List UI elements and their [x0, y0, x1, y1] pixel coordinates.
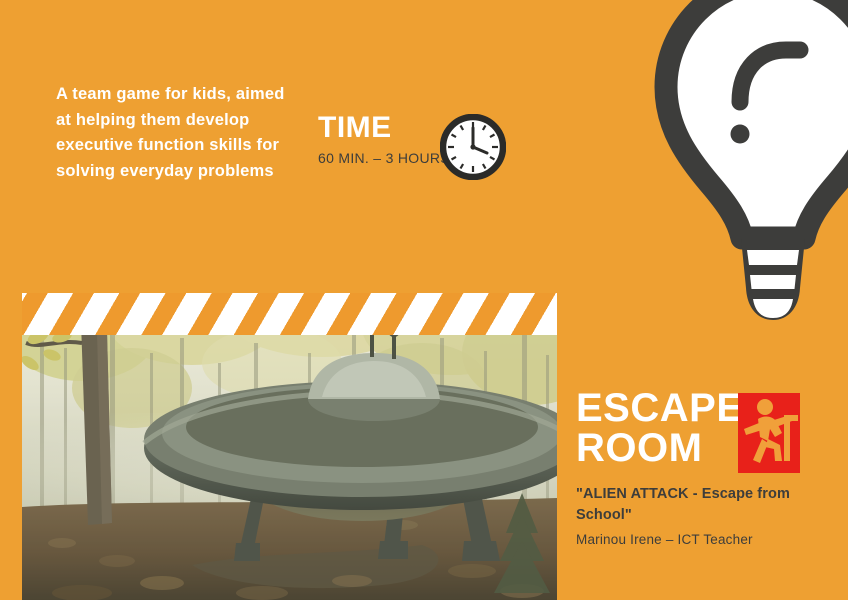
emergency-exit-running-man-icon — [738, 393, 800, 473]
lightbulb-question-icon — [648, 0, 848, 362]
poster-canvas: A team game for kids, aimed at helping t… — [0, 0, 848, 600]
intro-description: A team game for kids, aimed at helping t… — [56, 82, 301, 184]
clock-icon — [440, 114, 506, 180]
game-title: "ALIEN ATTACK - Escape from School" — [576, 484, 816, 526]
escape-title-line2: ROOM — [576, 428, 746, 468]
escape-room-title: ESCAPE ROOM — [576, 388, 746, 468]
ufo-forest-photo — [22, 293, 557, 600]
hazard-stripes — [22, 293, 557, 335]
author-credit: Marinou Irene – ICT Teacher — [576, 532, 826, 547]
escape-title-line1: ESCAPE — [576, 388, 746, 428]
